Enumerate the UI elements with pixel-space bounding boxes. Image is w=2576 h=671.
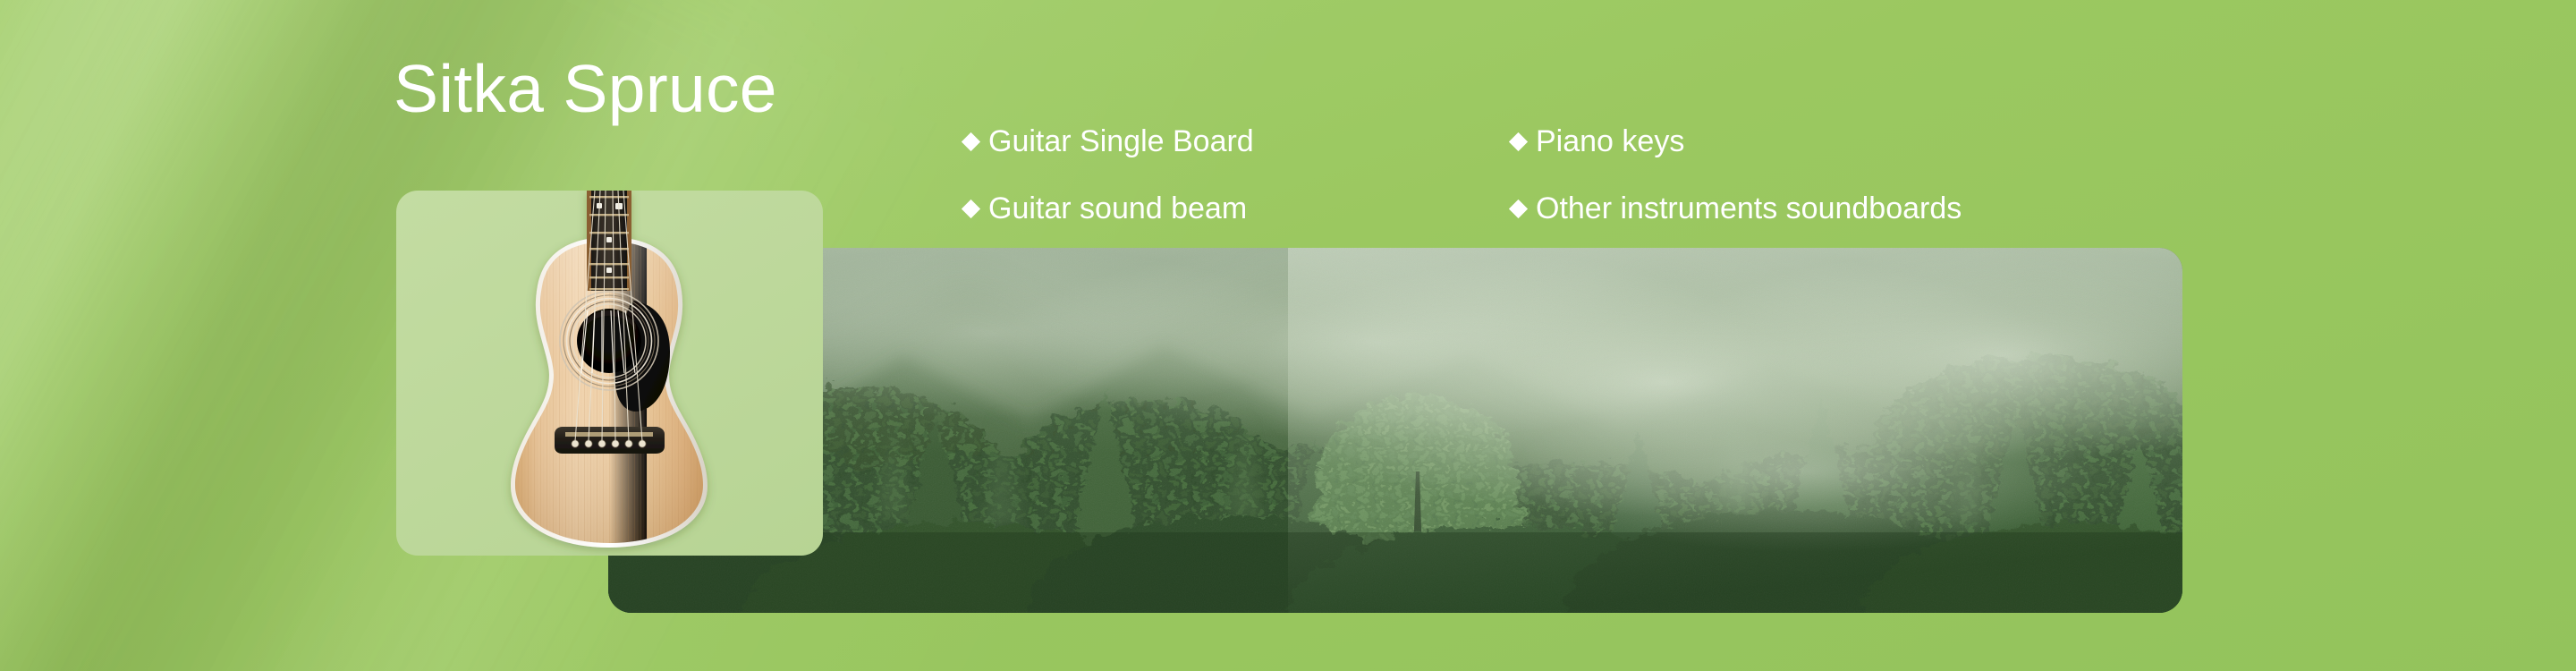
feature-item-guitar-sound-beam: Guitar sound beam [964, 193, 1512, 224]
forest-image-panel [608, 248, 2182, 613]
page-title: Sitka Spruce [394, 55, 777, 123]
guitar-image-card [396, 191, 823, 556]
feature-label: Guitar Single Board [988, 126, 1254, 157]
feature-item-piano-keys: Piano keys [1512, 126, 2216, 157]
misty-forest-photo [608, 248, 2182, 613]
diamond-bullet-icon [1509, 132, 1528, 151]
feature-label: Guitar sound beam [988, 193, 1247, 224]
acoustic-guitar-illustration [396, 191, 823, 556]
feature-label: Other instruments soundboards [1536, 193, 1962, 224]
feature-item-guitar-single-board: Guitar Single Board [964, 126, 1512, 157]
feature-list: Guitar Single Board Piano keys Guitar so… [964, 107, 2216, 242]
feature-label: Piano keys [1536, 126, 1684, 157]
diamond-bullet-icon [962, 200, 980, 218]
feature-item-other-instruments-soundboards: Other instruments soundboards [1512, 193, 2216, 224]
diamond-bullet-icon [1509, 200, 1528, 218]
diamond-bullet-icon [962, 132, 980, 151]
